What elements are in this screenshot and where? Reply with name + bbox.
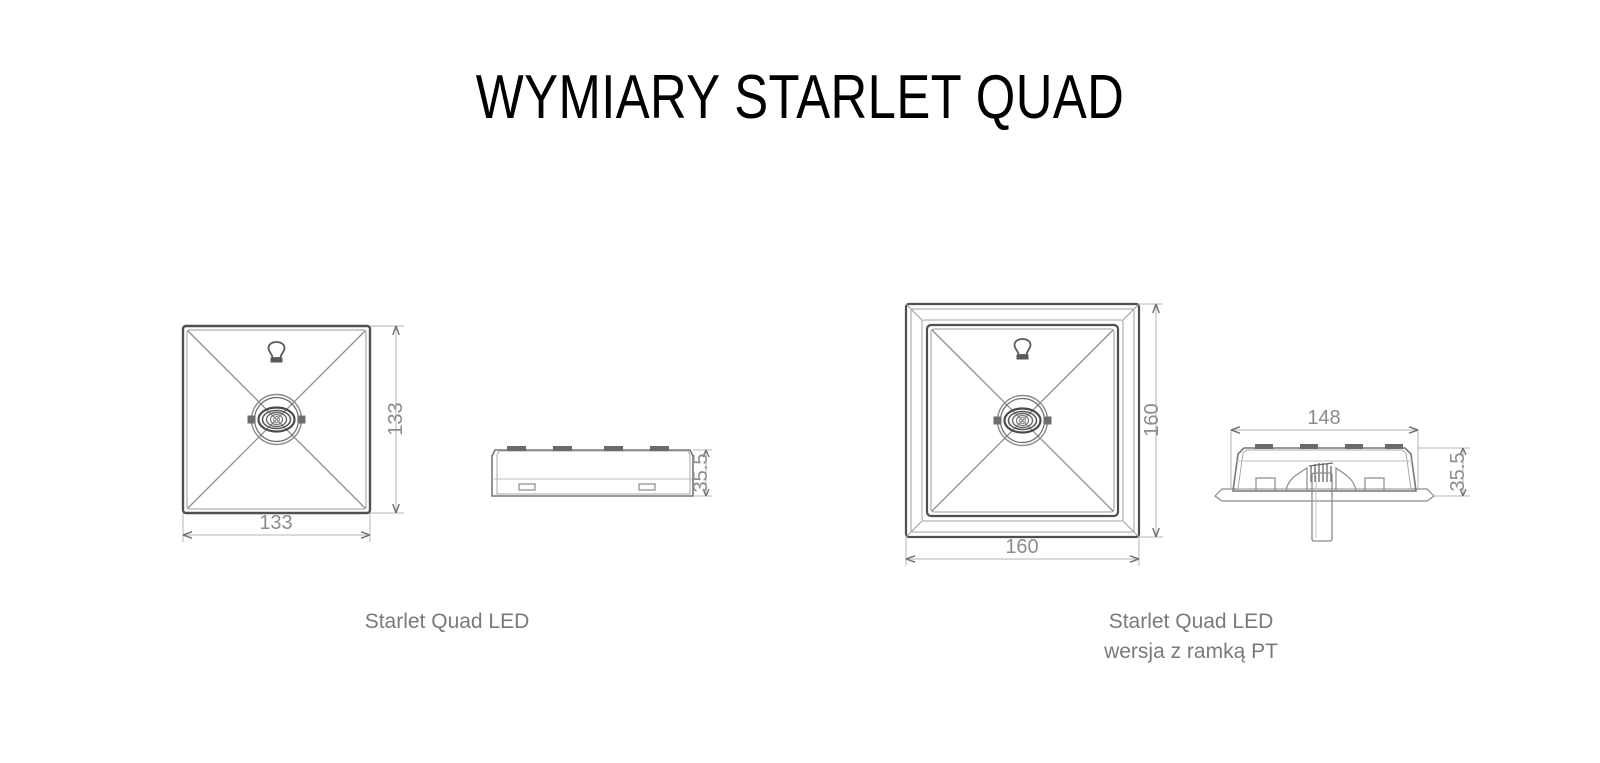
left-height-label: 133: [385, 402, 407, 435]
caption-right-figure: Starlet Quad LED wersja z ramką PT: [1010, 607, 1372, 667]
right-bracket-right: [1336, 468, 1356, 491]
left-side-height-label: 35.5: [690, 454, 712, 493]
right-mounting-stem: [1312, 473, 1332, 541]
left-side-height-dimension: 35.5: [690, 450, 712, 496]
right-side-body: [1233, 448, 1416, 491]
right-miter-tl: [906, 304, 922, 320]
right-height-dimension: 160: [1139, 304, 1163, 537]
left-width-label: 133: [259, 512, 292, 534]
right-tab-3: [1345, 444, 1363, 449]
left-notch-2: [639, 484, 655, 490]
right-side-body-inner: [1238, 450, 1411, 489]
right-bracket-left: [1286, 468, 1307, 491]
right-miter-tr: [1123, 304, 1139, 320]
right-miter-bl: [906, 521, 922, 537]
left-tab-3: [604, 446, 623, 451]
right-top-view: [906, 304, 1139, 537]
right-tab-1: [1255, 444, 1273, 449]
left-top-view: [183, 326, 370, 513]
right-side-width-label: 148: [1307, 407, 1340, 429]
right-width-label: 160: [1005, 536, 1038, 558]
caption-left-line-1: Starlet Quad LED: [266, 607, 628, 637]
right-side-height-label: 35.5: [1447, 453, 1469, 492]
light-bulb-icon: [1015, 339, 1031, 359]
right-side-view: [1215, 444, 1434, 541]
right-tab-4: [1385, 444, 1403, 449]
left-tab-1: [507, 446, 526, 451]
left-width-dimension: 133: [183, 512, 370, 542]
right-tab-2: [1300, 444, 1318, 449]
caption-right-line-2: wersja z ramką PT: [1010, 637, 1372, 667]
right-height-label: 160: [1141, 403, 1163, 436]
left-notch-1: [519, 484, 535, 490]
left-side-view: [492, 446, 693, 496]
left-side-body: [492, 450, 693, 496]
caption-right-line-1: Starlet Quad LED: [1010, 607, 1372, 637]
caption-left-figure: Starlet Quad LED: [266, 607, 628, 637]
right-miter-br: [1123, 521, 1139, 537]
light-bulb-icon: [269, 342, 285, 362]
left-side-body-inner: [497, 451, 690, 494]
figure-right-starlet-quad-led-pt: 160 160: [906, 304, 1470, 566]
figure-left-starlet-quad-led: 133 133: [183, 326, 712, 542]
left-tab-2: [553, 446, 572, 451]
left-height-dimension: 133: [370, 326, 407, 513]
right-width-dimension: 160: [906, 536, 1139, 566]
left-tab-4: [650, 446, 669, 451]
